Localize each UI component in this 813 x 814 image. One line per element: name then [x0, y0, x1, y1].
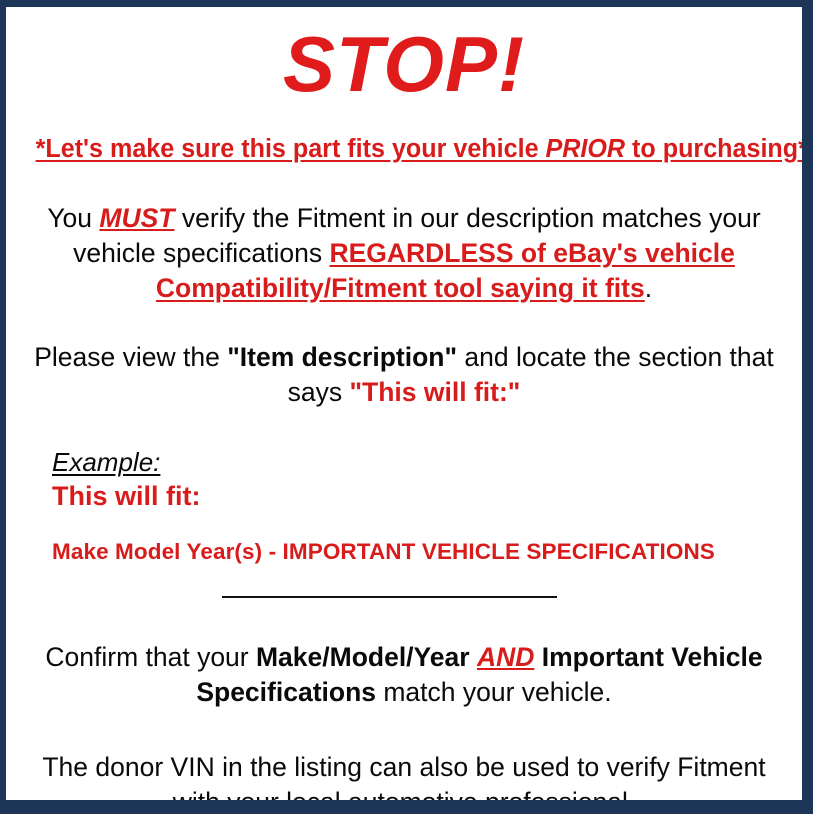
confirm-space-2 [534, 642, 541, 672]
para1-segment-3: . [645, 273, 652, 303]
and-emphasis: AND [477, 642, 534, 672]
notice-content: STOP! *Let's make sure this part fits yo… [6, 7, 802, 800]
paragraph-must-verify: You MUST verify the Fitment in our descr… [30, 201, 778, 306]
paragraph-donor-vin: The donor VIN in the listing can also be… [30, 750, 778, 800]
tagline-before: *Let's make sure this part fits your veh… [36, 135, 546, 163]
para2-segment-1: Please view the [34, 342, 227, 372]
horizontal-divider [222, 596, 557, 598]
confirm-segment-1: Confirm that your [45, 642, 256, 672]
divider-wrap [30, 590, 778, 604]
item-description-quote: "Item description" [227, 342, 457, 372]
confirm-space-1 [470, 642, 477, 672]
must-emphasis: MUST [99, 203, 174, 233]
this-will-fit-quote: "This will fit:" [349, 377, 520, 407]
example-label: Example: [52, 448, 778, 478]
paragraph-item-description: Please view the "Item description" and l… [30, 340, 778, 410]
tagline-after: to purchasing* [625, 135, 802, 163]
example-block: Example: This will fit: Make Model Year(… [30, 448, 778, 565]
tagline-emphasis: PRIOR [546, 135, 626, 163]
para1-segment-1: You [47, 203, 99, 233]
make-model-year-emphasis: Make/Model/Year [256, 642, 470, 672]
fitment-notice-frame: STOP! *Let's make sure this part fits yo… [0, 0, 813, 814]
example-fits-header: This will fit: [52, 480, 778, 512]
page-title: STOP! [30, 25, 778, 103]
tagline: *Let's make sure this part fits your veh… [36, 135, 773, 163]
paragraph-confirm: Confirm that your Make/Model/Year AND Im… [30, 640, 778, 710]
confirm-segment-2: match your vehicle. [376, 677, 612, 707]
example-spec-line: Make Model Year(s) - IMPORTANT VEHICLE S… [52, 538, 778, 565]
